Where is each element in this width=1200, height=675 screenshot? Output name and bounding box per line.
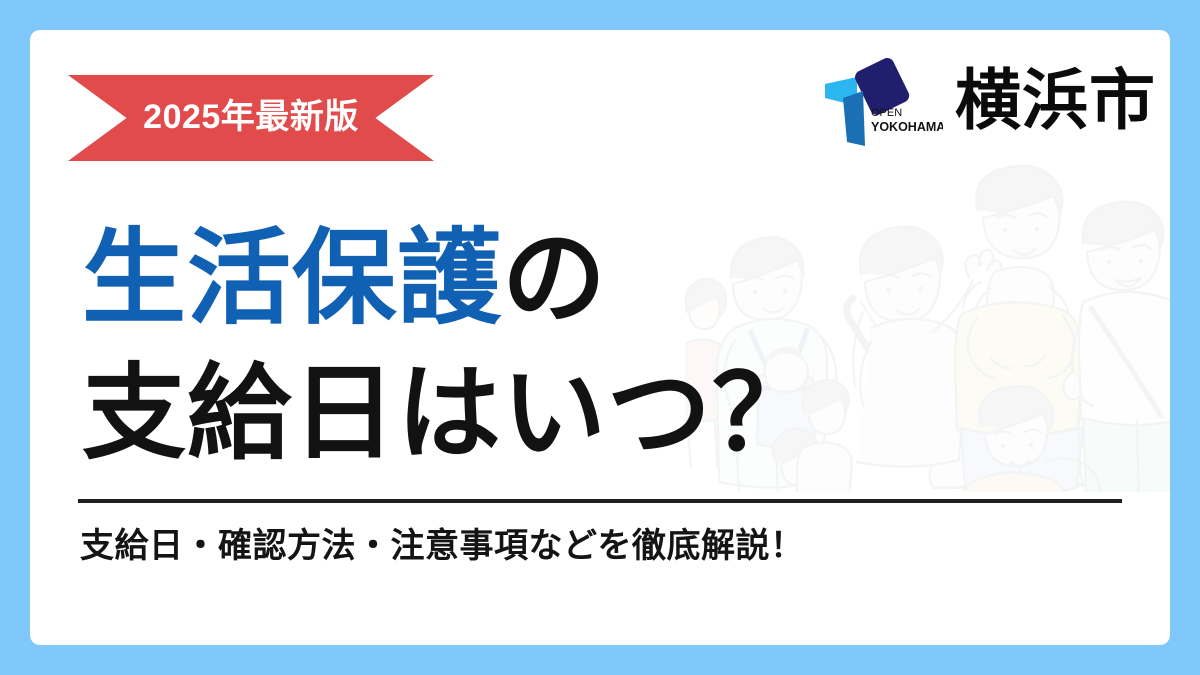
- logo-open-text: OPEN: [871, 107, 902, 119]
- page-title: 生活保護の 支給日はいつ？: [82, 212, 1002, 482]
- logo-yokohama-text: YOKOHAMA: [871, 120, 943, 134]
- headline-line-2: 支給日はいつ？: [82, 347, 1002, 482]
- city-name-label: 横浜市: [955, 67, 1156, 137]
- thumbnail-canvas: 2025年最新版 OPEN YOKOHAMA 横浜: [0, 0, 1200, 675]
- headline-line-1: 生活保護の: [82, 212, 1002, 347]
- title-divider: [78, 499, 1122, 503]
- subtitle-text: 支給日・確認方法・注意事項などを徹底解説！: [80, 524, 805, 570]
- headline-highlight: 生活保護: [82, 221, 502, 337]
- content-card: 2025年最新版 OPEN YOKOHAMA 横浜: [30, 30, 1170, 645]
- headline-line-1-rest: の: [502, 221, 607, 337]
- new-edition-ribbon: 2025年最新版: [68, 75, 434, 161]
- ribbon-label: 2025年最新版: [68, 75, 434, 161]
- open-yokohama-logo: OPEN YOKOHAMA: [813, 50, 943, 154]
- brand-lockup: OPEN YOKOHAMA 横浜市: [813, 50, 1156, 154]
